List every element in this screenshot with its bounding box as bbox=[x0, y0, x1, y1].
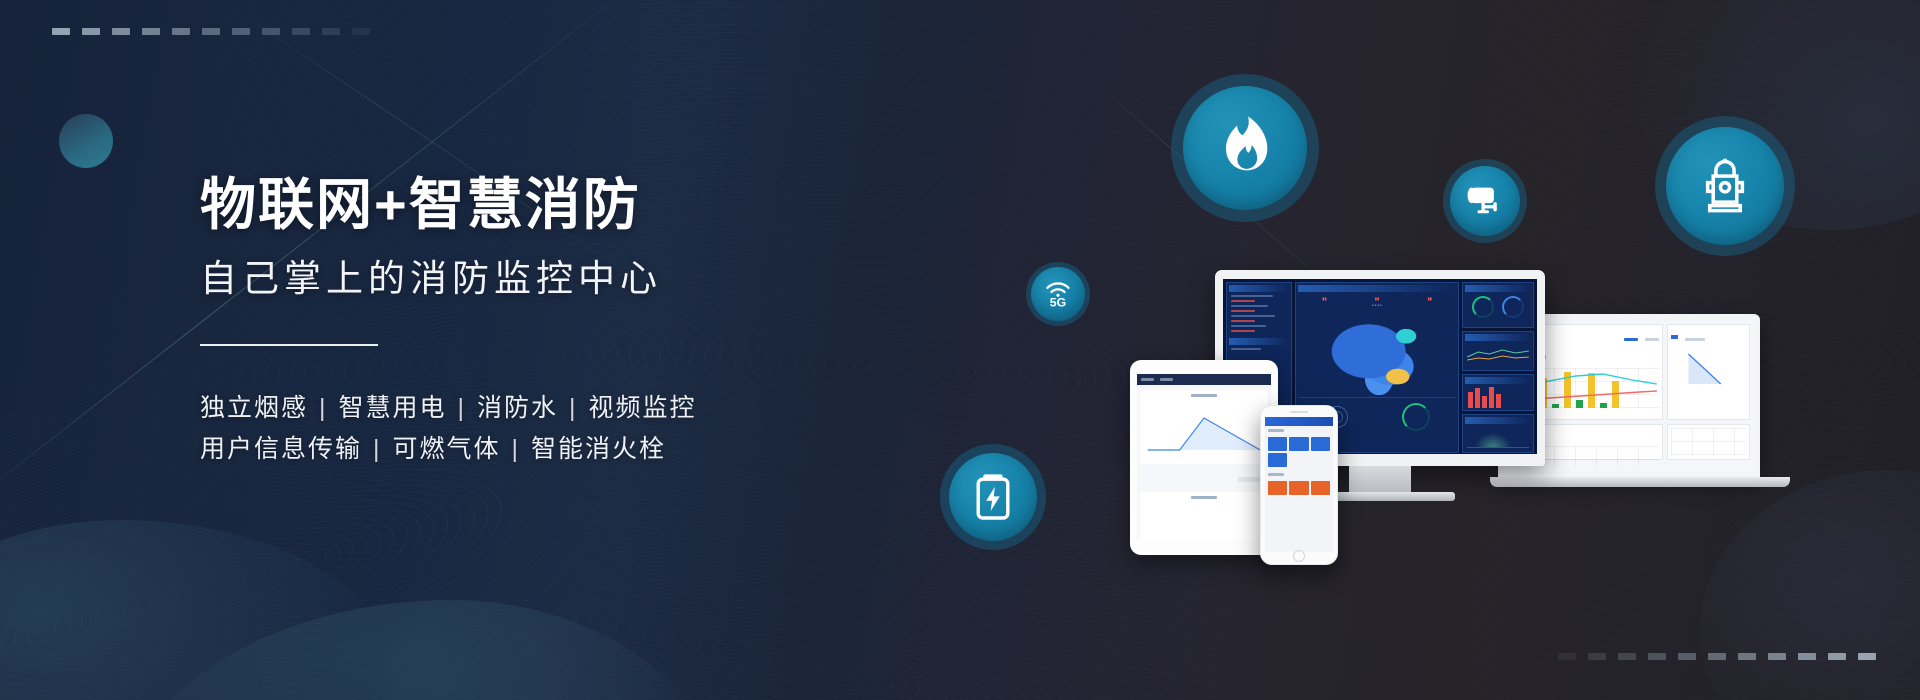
hero-divider bbox=[200, 344, 378, 346]
hero-text-block: 物联网+智慧消防 自己掌上的消防监控中心 独立烟感|智慧用电|消防水|视频监控用… bbox=[200, 174, 920, 469]
dash-mark bbox=[1798, 653, 1816, 660]
dashboard-gauges-panel bbox=[1462, 282, 1534, 328]
fire-icon-badge[interactable] bbox=[1171, 74, 1319, 222]
dash-mark bbox=[262, 28, 280, 35]
phone-speaker bbox=[1290, 411, 1308, 413]
feature-item: 独立烟感 bbox=[200, 394, 308, 422]
fire-icon bbox=[1214, 115, 1276, 181]
china-map bbox=[1325, 311, 1429, 395]
bar-chart bbox=[1465, 386, 1531, 408]
dash-strip-bottom-right bbox=[1558, 653, 1876, 660]
svg-text:5G: 5G bbox=[1050, 296, 1066, 309]
dash-mark bbox=[1678, 653, 1696, 660]
hero-title: 物联网+智慧消防 bbox=[200, 174, 920, 236]
hero-banner: 物联网+智慧消防 自己掌上的消防监控中心 独立烟感|智慧用电|消防水|视频监控用… bbox=[0, 0, 1920, 700]
phone-home-button[interactable] bbox=[1293, 550, 1305, 562]
dash-mark bbox=[142, 28, 160, 35]
laptop-bottom-right-card bbox=[1667, 424, 1750, 460]
phone-section-label-2 bbox=[1268, 473, 1284, 476]
phone-screen bbox=[1265, 417, 1333, 552]
feature-separator: | bbox=[558, 388, 589, 429]
dashboard-trend-panel bbox=[1462, 331, 1534, 371]
feature-item: 智慧用电 bbox=[339, 394, 447, 422]
dash-mark bbox=[52, 28, 70, 35]
phone-tile[interactable] bbox=[1311, 437, 1330, 451]
dash-mark bbox=[322, 28, 340, 35]
map-legend: ● ● ● ● bbox=[1298, 303, 1456, 307]
dash-mark bbox=[1588, 653, 1606, 660]
hero-subtitle: 自己掌上的消防监控中心 bbox=[200, 258, 920, 301]
dash-mark bbox=[1708, 653, 1726, 660]
laptop-area-chart bbox=[1671, 348, 1746, 388]
tablet-device bbox=[1130, 360, 1278, 555]
5g-icon-badge[interactable]: 5G bbox=[1026, 262, 1090, 326]
feature-separator: | bbox=[308, 388, 339, 429]
feature-separator: | bbox=[362, 429, 393, 470]
tablet-screen bbox=[1137, 374, 1271, 539]
dash-mark bbox=[232, 28, 250, 35]
dashboard-area-panel bbox=[1462, 414, 1534, 453]
blob-shape-bottom-left bbox=[0, 520, 400, 700]
feature-item: 智能消火栓 bbox=[531, 435, 666, 463]
trend-line-svg bbox=[1465, 343, 1531, 363]
phone-tile[interactable] bbox=[1289, 481, 1308, 495]
tablet-line-chart bbox=[1140, 390, 1268, 464]
dash-mark bbox=[1618, 653, 1636, 660]
battery-icon-badge[interactable] bbox=[940, 444, 1046, 550]
feature-item: 消防水 bbox=[477, 394, 558, 422]
camera-icon bbox=[1464, 184, 1506, 218]
phone-tile[interactable] bbox=[1268, 453, 1287, 467]
hydrant-icon bbox=[1697, 155, 1753, 217]
laptop-card-title bbox=[1671, 328, 1746, 346]
device-cluster: ▮▮▮▮▮▮ ● ● ● ● bbox=[1120, 270, 1900, 570]
dash-mark bbox=[292, 28, 310, 35]
phone-tile[interactable] bbox=[1268, 437, 1287, 451]
phone-tile-grid-blue bbox=[1265, 434, 1333, 470]
phone-tile[interactable] bbox=[1311, 481, 1330, 495]
phone-header-bar bbox=[1265, 417, 1333, 426]
dash-mark bbox=[1558, 653, 1576, 660]
dash-mark bbox=[82, 28, 100, 35]
dashboard-bar-panel bbox=[1462, 374, 1534, 411]
tablet-button-row[interactable] bbox=[1137, 469, 1271, 487]
dash-mark bbox=[1648, 653, 1666, 660]
gauge-chart-right bbox=[1402, 403, 1430, 431]
feature-item: 视频监控 bbox=[589, 394, 697, 422]
accent-circle-icon bbox=[59, 114, 113, 168]
gauge-2 bbox=[1502, 296, 1524, 318]
feature-item: 用户信息传输 bbox=[200, 435, 362, 463]
phone-tile[interactable] bbox=[1268, 481, 1287, 495]
tablet-topbar bbox=[1137, 374, 1271, 385]
dash-mark bbox=[1828, 653, 1846, 660]
tablet-second-chart bbox=[1140, 492, 1268, 539]
gauge-1 bbox=[1472, 296, 1494, 318]
kpi-row: ▮▮▮▮▮▮ bbox=[1298, 294, 1456, 303]
phone-tile-grid-orange bbox=[1265, 478, 1333, 498]
feature-item: 可燃气体 bbox=[393, 435, 501, 463]
phone-section-label-1 bbox=[1268, 429, 1284, 432]
dash-mark bbox=[1768, 653, 1786, 660]
feature-separator: | bbox=[447, 388, 478, 429]
dash-mark bbox=[202, 28, 220, 35]
dashboard-right-column bbox=[1462, 282, 1534, 453]
dash-mark bbox=[1858, 653, 1876, 660]
feature-row-1: 独立烟感|智慧用电|消防水|视频监控 bbox=[200, 388, 920, 429]
hydrant-icon-badge[interactable] bbox=[1655, 116, 1795, 256]
area-chart bbox=[1467, 426, 1529, 448]
feature-row-2: 用户信息传输|可燃气体|智能消火栓 bbox=[200, 429, 920, 470]
5g-icon: 5G bbox=[1042, 279, 1074, 309]
hero-feature-list: 独立烟感|智慧用电|消防水|视频监控用户信息传输|可燃气体|智能消火栓 bbox=[200, 388, 920, 469]
dash-mark bbox=[112, 28, 130, 35]
camera-icon-badge[interactable] bbox=[1443, 159, 1527, 243]
line-chart-svg bbox=[1144, 400, 1264, 454]
blob-shape-bottom-center bbox=[110, 600, 730, 700]
feature-separator: | bbox=[501, 429, 532, 470]
dash-strip-top-left bbox=[52, 28, 370, 35]
dash-mark bbox=[352, 28, 370, 35]
monitor-stand bbox=[1349, 466, 1411, 492]
dash-mark bbox=[1738, 653, 1756, 660]
battery-icon bbox=[973, 472, 1013, 522]
phone-device bbox=[1260, 405, 1338, 565]
dash-mark bbox=[172, 28, 190, 35]
laptop-area-chart-card bbox=[1667, 324, 1750, 420]
phone-tile[interactable] bbox=[1289, 437, 1308, 451]
